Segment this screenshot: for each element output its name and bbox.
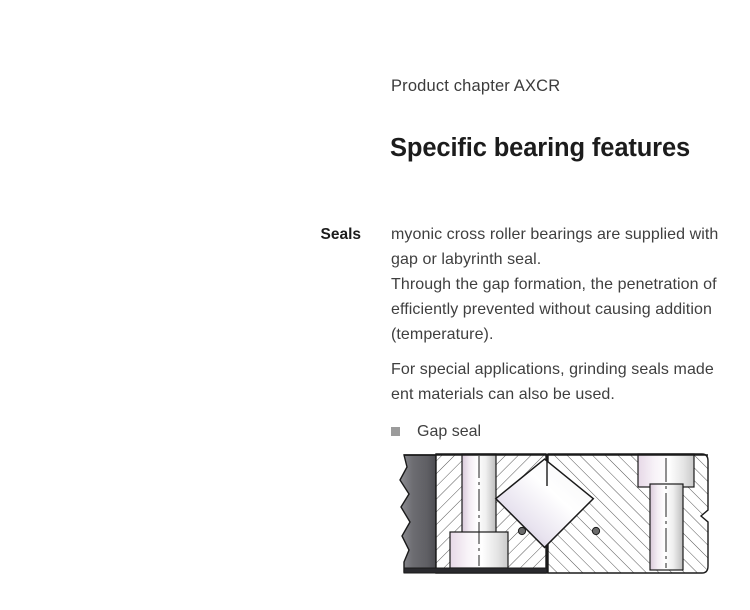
bearing-cross-section-figure bbox=[396, 450, 712, 582]
paragraph-line: gap or labyrinth seal. bbox=[391, 247, 750, 272]
roller-spacer-left bbox=[518, 527, 525, 534]
chapter-eyebrow: Product chapter AXCR bbox=[391, 75, 560, 97]
gap-seal-body bbox=[400, 455, 436, 572]
paragraph-line: Through the gap formation, the penetrati… bbox=[391, 272, 750, 297]
paragraph-line: efficiently prevented without causing ad… bbox=[391, 297, 750, 322]
paragraph-line: myonic cross roller bearings are supplie… bbox=[391, 222, 750, 247]
list-item-label: Gap seal bbox=[417, 419, 481, 444]
page-title: Specific bearing features bbox=[390, 131, 690, 165]
list-item: Gap seal bbox=[391, 419, 750, 444]
catalog-page: Product chapter AXCR Specific bearing fe… bbox=[0, 0, 750, 610]
paragraph-line: For special applications, grinding seals… bbox=[391, 357, 750, 382]
section-margin-label: Seals bbox=[231, 224, 361, 246]
paragraph-line: (temperature). bbox=[391, 322, 750, 347]
paragraph-line: ent materials can also be used. bbox=[391, 382, 750, 407]
bearing-base-edge bbox=[404, 568, 547, 573]
roller-spacer-right bbox=[592, 527, 599, 534]
square-bullet-icon bbox=[391, 427, 400, 436]
body-column: myonic cross roller bearings are supplie… bbox=[391, 222, 750, 444]
paragraph: For special applications, grinding seals… bbox=[391, 357, 750, 407]
bearing-section-drawing bbox=[396, 450, 712, 582]
paragraph: myonic cross roller bearings are supplie… bbox=[391, 222, 750, 347]
